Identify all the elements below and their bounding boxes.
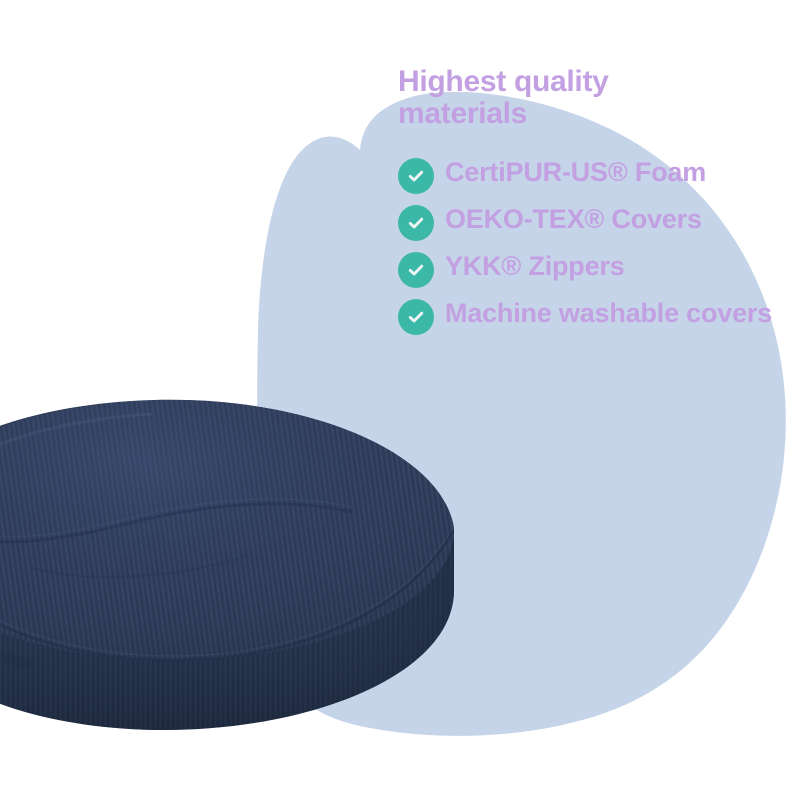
- feature-label: Machine washable covers: [445, 298, 772, 328]
- feature-label: CertiPUR-US® Foam: [445, 157, 706, 187]
- list-item: Machine washable covers: [398, 298, 798, 335]
- feature-label: OEKO-TEX® Covers: [445, 204, 702, 234]
- navy-corduroy-pouf: [0, 378, 502, 743]
- list-item: CertiPUR-US® Foam: [398, 157, 798, 194]
- check-circle-icon: [398, 252, 434, 288]
- feature-label: YKK® Zippers: [445, 251, 625, 281]
- page-title: Highest quality materials: [398, 66, 798, 131]
- check-circle-icon: [398, 158, 434, 194]
- check-circle-icon: [398, 205, 434, 241]
- list-item: OEKO-TEX® Covers: [398, 204, 798, 241]
- check-circle-icon: [398, 299, 434, 335]
- pouf-illustration: [0, 378, 502, 743]
- marketing-image-canvas: Highest quality materials CertiPUR-US® F…: [0, 0, 800, 800]
- feature-list: CertiPUR-US® Foam OEKO-TEX® Covers YKK® …: [398, 157, 798, 335]
- feature-callout-block: Highest quality materials CertiPUR-US® F…: [398, 66, 798, 345]
- list-item: YKK® Zippers: [398, 251, 798, 288]
